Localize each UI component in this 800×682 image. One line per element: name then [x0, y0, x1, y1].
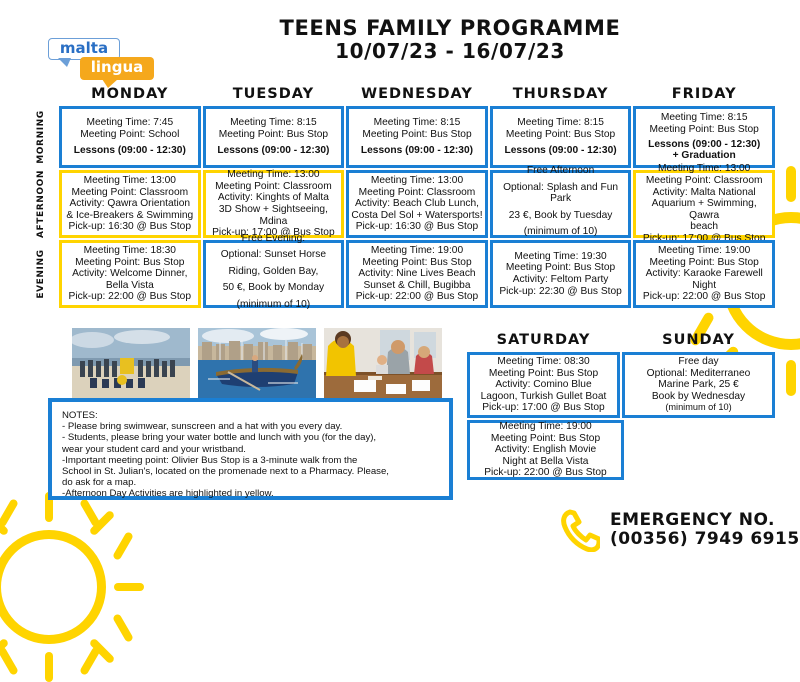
cell-line: Activity: Malta National [653, 187, 756, 199]
cell-line: Meeting Time: 19:30 [514, 251, 606, 263]
cell-line: Meeting Point: Classroom [215, 181, 332, 193]
cell-line: 3D Show + Sightseeing, [219, 204, 328, 216]
cell-line: Meeting Point: Classroom [646, 175, 763, 187]
cell-line-emphasis: Lessons (09:00 - 12:30) [648, 139, 760, 151]
cell-evening-tuesday: Free Evening:Optional: Sunset HorseRidin… [203, 240, 345, 308]
row-label-afternoon: AFTERNOON [24, 169, 58, 239]
day-header-sunday: SUNDAY [621, 332, 776, 351]
cell-line: Night at Bella Vista [503, 456, 589, 468]
cell-line: Mdina [260, 216, 288, 228]
note-line: -Important meeting point: Olivier Bus St… [62, 455, 439, 466]
cell-line: Free day [678, 356, 718, 368]
row-label-morning-text: MORNING [36, 110, 46, 164]
cell-line: Meeting Point: Bus Stop [506, 262, 615, 274]
cell-line-emphasis: Lessons (09:00 - 12:30) [217, 145, 329, 157]
note-line: do ask for a map. [62, 477, 439, 488]
cell-line: Activity: Feltom Party [513, 274, 609, 286]
weekend-schedule: SATURDAYSUNDAY Meeting Time: 08:30Meetin… [466, 332, 776, 481]
cell-line: Optional: Sunset Horse [221, 249, 326, 261]
cell-line: Meeting Time: 8:15 [374, 117, 461, 129]
weekend-empty-slot [626, 420, 775, 480]
schedule-row-morning: MORNING Meeting Time: 7:45Meeting Point:… [24, 105, 776, 169]
cell-line: Activity: Comino Blue [495, 379, 591, 391]
sun-ray [45, 652, 53, 682]
note-line: wear your student card and your wristban… [62, 444, 439, 455]
weekend-day-headers: SATURDAYSUNDAY [466, 332, 776, 351]
cell-line: Meeting Point: School [80, 129, 179, 141]
logo-bubble-tail-lingua [102, 79, 118, 88]
cell-evening-friday: Meeting Time: 19:00Meeting Point: Bus St… [633, 240, 775, 308]
sun-ring [0, 530, 106, 644]
cell-line: Activity: Karaoke Farewell [646, 268, 763, 280]
cell-line: & Ice-Breakers & Swimming [66, 210, 193, 222]
day-header-wednesday: WEDNESDAY [345, 86, 489, 105]
week-schedule-grid: MONDAYTUESDAYWEDNESDAYTHURSDAYFRIDAY MOR… [24, 86, 776, 309]
cell-weekend-saturday: Meeting Time: 08:30Meeting Point: Bus St… [467, 352, 620, 418]
cell-line: Aquarium + Swimming, Qawra [637, 198, 771, 221]
row-label-afternoon-text: AFTERNOON [36, 170, 46, 238]
emergency-number: (00356) 7949 6915 [610, 530, 800, 549]
cell-line: Meeting Point: Bus Stop [219, 129, 328, 141]
cell-line: Bella Vista [106, 280, 154, 292]
row-label-evening: EVENING [24, 239, 58, 309]
sun-ray [112, 531, 134, 561]
cell-line: Night [692, 280, 716, 292]
cell-line: beach [690, 221, 718, 233]
cell-line: Optional: Mediterraneo [647, 368, 751, 380]
day-header-tuesday: TUESDAY [202, 86, 346, 105]
cell-line: Pick-up: 22:00 @ Bus Stop [69, 291, 191, 303]
cell-line: Riding, Golden Bay, [228, 266, 318, 278]
cell-evening-thursday: Meeting Time: 19:30Meeting Point: Bus St… [490, 240, 632, 308]
maltalingua-logo: malta lingua [44, 36, 154, 84]
day-header-friday: FRIDAY [632, 86, 776, 105]
phone-icon [560, 508, 600, 552]
cell-line: Meeting Time: 19:00 [499, 421, 591, 433]
cell-line: Meeting Time: 8:15 [517, 117, 604, 129]
photo-classroom-students [324, 328, 442, 398]
cell-afternoon-thursday: Free AfternoonOptional: Splash and Fun P… [490, 170, 632, 238]
cell-line: Activity: Qawra Orientation [70, 198, 191, 210]
cell-line: Pick-up: 22:00 @ Bus Stop [356, 291, 478, 303]
cell-line: Meeting Point: Bus Stop [650, 124, 759, 136]
cell-line-emphasis: + Graduation [673, 150, 736, 162]
cell-line: Book by Wednesday [652, 391, 745, 403]
cell-line: Activity: English Movie [495, 444, 596, 456]
day-header-saturday: SATURDAY [466, 332, 621, 351]
cell-weekend-saturday-evening: Meeting Time: 19:00Meeting Point: Bus St… [467, 420, 624, 480]
sun-decoration-bottom-left [0, 492, 144, 682]
cell-line: Meeting Point: Bus Stop [362, 257, 471, 269]
row-label-morning: MORNING [24, 105, 58, 169]
cell-line: Meeting Time: 18:30 [84, 245, 176, 257]
cell-line: Pick-up: 22:00 @ Bus Stop [484, 467, 606, 479]
cell-morning-friday: Meeting Time: 8:15Meeting Point: Bus Sto… [633, 106, 775, 168]
cell-line: Meeting Point: Bus Stop [506, 129, 615, 141]
schedule-row-evening: EVENING Meeting Time: 18:30Meeting Point… [24, 239, 776, 309]
cell-line: (minimum of 10) [665, 402, 731, 414]
day-header-monday: MONDAY [58, 86, 202, 105]
cell-weekend-sunday: Free dayOptional: MediterraneoMarine Par… [622, 352, 775, 418]
cell-line: Meeting Time: 08:30 [497, 356, 589, 368]
logo-bubble-tail-malta [58, 58, 71, 67]
cell-line: Meeting Time: 8:15 [230, 117, 317, 129]
cell-morning-thursday: Meeting Time: 8:15Meeting Point: Bus Sto… [490, 106, 632, 168]
cell-morning-wednesday: Meeting Time: 8:15Meeting Point: Bus Sto… [346, 106, 488, 168]
cell-line: Meeting Time: 19:00 [371, 245, 463, 257]
sun-ray [79, 498, 101, 528]
cell-afternoon-monday: Meeting Time: 13:00Meeting Point: Classr… [59, 170, 201, 238]
note-line: -Afternoon Day Activities are highlighte… [62, 488, 439, 499]
cell-line: Meeting Point: Bus Stop [362, 129, 471, 141]
cell-line: Meeting Point: Classroom [359, 187, 476, 199]
photo-strip [72, 328, 442, 398]
cell-morning-monday: Meeting Time: 7:45Meeting Point: SchoolL… [59, 106, 201, 168]
notes-box: NOTES: - Please bring swimwear, sunscree… [48, 398, 453, 500]
cell-morning-tuesday: Meeting Time: 8:15Meeting Point: Bus Sto… [203, 106, 345, 168]
cell-line: Pick-up: 17:00 @ Bus Stop [482, 402, 604, 414]
programme-dates: 10/07/23 - 16/07/23 [240, 40, 660, 63]
photo-harbour-boat [198, 328, 316, 398]
logo-text-lingua: lingua [80, 57, 154, 78]
cell-afternoon-friday: Meeting Time: 13:00Meeting Point: Classr… [633, 170, 775, 238]
cell-line: (minimum of 10) [524, 226, 598, 238]
page-title: TEENS FAMILY PROGRAMME 10/07/23 - 16/07/… [240, 16, 660, 63]
evening-cells: Meeting Time: 18:30Meeting Point: Bus St… [58, 239, 776, 309]
sun-ray [79, 646, 101, 676]
cell-line: Pick-up: 16:30 @ Bus Stop [69, 221, 191, 233]
cell-line: Optional: Splash and Fun Park [494, 182, 628, 205]
cell-line: Activity: Welcome Dinner, [72, 268, 187, 280]
sun-ray [0, 646, 19, 676]
photo-beach-group [72, 328, 190, 398]
cell-line: Meeting Point: Bus Stop [650, 257, 759, 269]
weekend-row-day: Meeting Time: 08:30Meeting Point: Bus St… [466, 351, 776, 419]
cell-line: Activity: Kinghts of Malta [218, 192, 329, 204]
note-line: - Please bring swimwear, sunscreen and a… [62, 421, 439, 432]
cell-line: Lagoon, Turkish Gullet Boat [481, 391, 607, 403]
cell-line: Marine Park, 25 € [658, 379, 738, 391]
cell-line: Meeting Time: 8:15 [661, 112, 748, 124]
cell-line: 23 €, Book by Tuesday [509, 210, 613, 222]
emergency-label: EMERGENCY NO. [610, 511, 800, 530]
cell-line: Pick-up: 22:30 @ Bus Stop [499, 286, 621, 298]
cell-line-emphasis: Lessons (09:00 - 12:30) [505, 145, 617, 157]
notes-heading: NOTES: [62, 410, 439, 421]
cell-line: Activity: Nine Lives Beach [358, 268, 475, 280]
cell-evening-wednesday: Meeting Time: 19:00Meeting Point: Bus St… [346, 240, 488, 308]
cell-line: Meeting Time: 13:00 [84, 175, 176, 187]
cell-line: Meeting Point: Classroom [71, 187, 188, 199]
cell-line: Free Evening: [242, 233, 305, 245]
logo-bubble-lingua: lingua [80, 57, 154, 80]
sun-ray [786, 360, 796, 396]
emergency-text: EMERGENCY NO. (00356) 7949 6915 [610, 511, 800, 549]
sun-ray [0, 498, 19, 528]
cell-line: Free Afternoon [527, 165, 594, 177]
cell-line: Activity: Beach Club Lunch, [355, 198, 479, 210]
emergency-contact: EMERGENCY NO. (00356) 7949 6915 [560, 508, 800, 552]
cell-line-emphasis: Lessons (09:00 - 12:30) [361, 145, 473, 157]
cell-line: (minimum of 10) [237, 299, 311, 311]
cell-line: Sunset & Chill, Bugibba [363, 280, 470, 292]
note-line: School in St. Julian's, located on the p… [62, 466, 439, 477]
row-label-evening-text: EVENING [36, 249, 46, 298]
weekend-row-evening: Meeting Time: 19:00Meeting Point: Bus St… [466, 419, 776, 481]
day-header-thursday: THURSDAY [489, 86, 633, 105]
schedule-row-afternoon: AFTERNOON Meeting Time: 13:00Meeting Poi… [24, 169, 776, 239]
cell-line: Pick-up: 22:00 @ Bus Stop [643, 291, 765, 303]
programme-title: TEENS FAMILY PROGRAMME [240, 16, 660, 40]
cell-line: Meeting Time: 13:00 [371, 175, 463, 187]
cell-line: Meeting Point: Bus Stop [75, 257, 184, 269]
cell-line: Meeting Time: 19:00 [658, 245, 750, 257]
note-line: - Students, please bring your water bott… [62, 432, 439, 443]
afternoon-cells: Meeting Time: 13:00Meeting Point: Classr… [58, 169, 776, 239]
cell-line: Meeting Point: Bus Stop [489, 368, 598, 380]
cell-line: Meeting Time: 13:00 [227, 169, 319, 181]
cell-afternoon-tuesday: Meeting Time: 13:00Meeting Point: Classr… [203, 170, 345, 238]
cell-line-emphasis: Lessons (09:00 - 12:30) [74, 145, 186, 157]
cell-line: Meeting Time: 7:45 [86, 117, 173, 129]
day-header-row: MONDAYTUESDAYWEDNESDAYTHURSDAYFRIDAY [58, 86, 776, 105]
morning-cells: Meeting Time: 7:45Meeting Point: SchoolL… [58, 105, 776, 169]
cell-line: Costa Del Sol + Watersports! [351, 210, 482, 222]
cell-evening-monday: Meeting Time: 18:30Meeting Point: Bus St… [59, 240, 201, 308]
cell-line: Meeting Point: Bus Stop [491, 433, 600, 445]
cell-line: Meeting Time: 13:00 [658, 163, 750, 175]
sun-ray [786, 166, 796, 202]
cell-line: 50 €, Book by Monday [223, 282, 324, 294]
cell-afternoon-wednesday: Meeting Time: 13:00Meeting Point: Classr… [346, 170, 488, 238]
notes-lines: - Please bring swimwear, sunscreen and a… [62, 421, 439, 499]
cell-line: Pick-up: 16:30 @ Bus Stop [356, 221, 478, 233]
sun-ray [114, 583, 144, 591]
logo-text-malta: malta [49, 39, 119, 58]
